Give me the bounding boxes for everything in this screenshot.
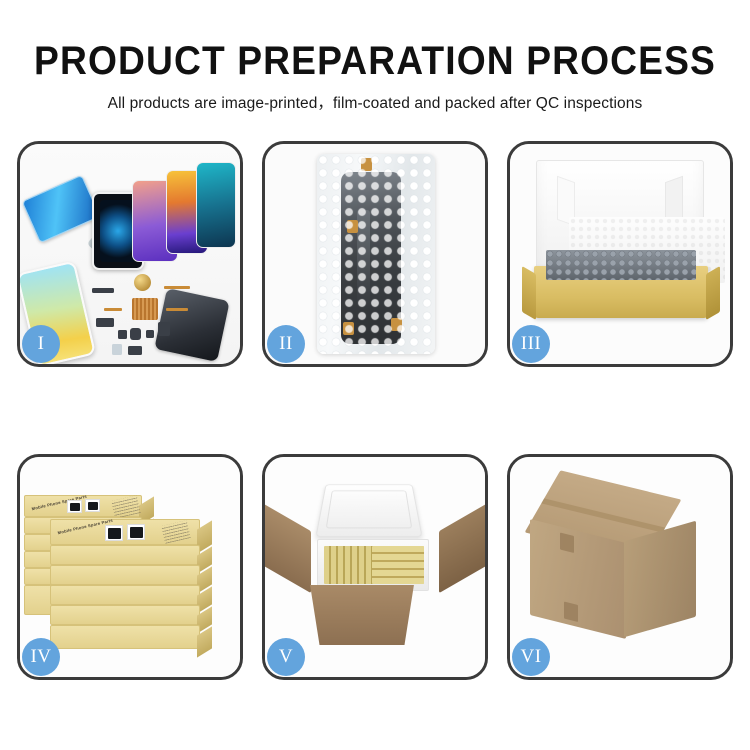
process-step-5: V xyxy=(262,454,488,680)
bubble-texture-overlay xyxy=(317,154,435,354)
speaker-part xyxy=(134,274,151,291)
product-preparation-infographic: PRODUCT PREPARATION PROCESS All products… xyxy=(0,0,750,750)
phone-teal xyxy=(196,162,236,248)
page-title: PRODUCT PREPARATION PROCESS xyxy=(26,40,724,82)
header: PRODUCT PREPARATION PROCESS All products… xyxy=(0,0,750,113)
grey-bubble-wrap-fill xyxy=(546,250,696,280)
foam-box-lid xyxy=(315,484,422,537)
process-step-1: I xyxy=(17,141,243,367)
process-step-3: III xyxy=(507,141,733,367)
step-badge-6: VI xyxy=(512,638,550,676)
carton-flap-left xyxy=(265,499,311,593)
bubble-wrap-bag xyxy=(317,154,435,354)
spare-parts-cluster xyxy=(92,274,212,358)
process-step-4: Mobile Phone Spare Parts Mobile Phone Sp… xyxy=(17,454,243,680)
step-badge-3: III xyxy=(512,325,550,363)
page-subtitle: All products are image-printed，film-coat… xyxy=(0,91,750,113)
yellow-boxes-row-b xyxy=(372,546,424,584)
phone-blue-angled xyxy=(21,175,100,244)
foam-box xyxy=(317,539,429,591)
step-badge-2: II xyxy=(267,325,305,363)
step-badge-1: I xyxy=(22,325,60,363)
carton-flap-right xyxy=(439,499,485,593)
process-step-6: VI xyxy=(507,454,733,680)
process-step-2: II xyxy=(262,141,488,367)
step-badge-4: IV xyxy=(22,638,60,676)
carton-side-face xyxy=(624,521,696,638)
carton-body xyxy=(303,585,421,645)
logic-board-part xyxy=(132,298,158,320)
process-steps-grid: I II xyxy=(17,141,733,686)
kraft-tray xyxy=(534,266,708,318)
step-badge-5: V xyxy=(267,638,305,676)
